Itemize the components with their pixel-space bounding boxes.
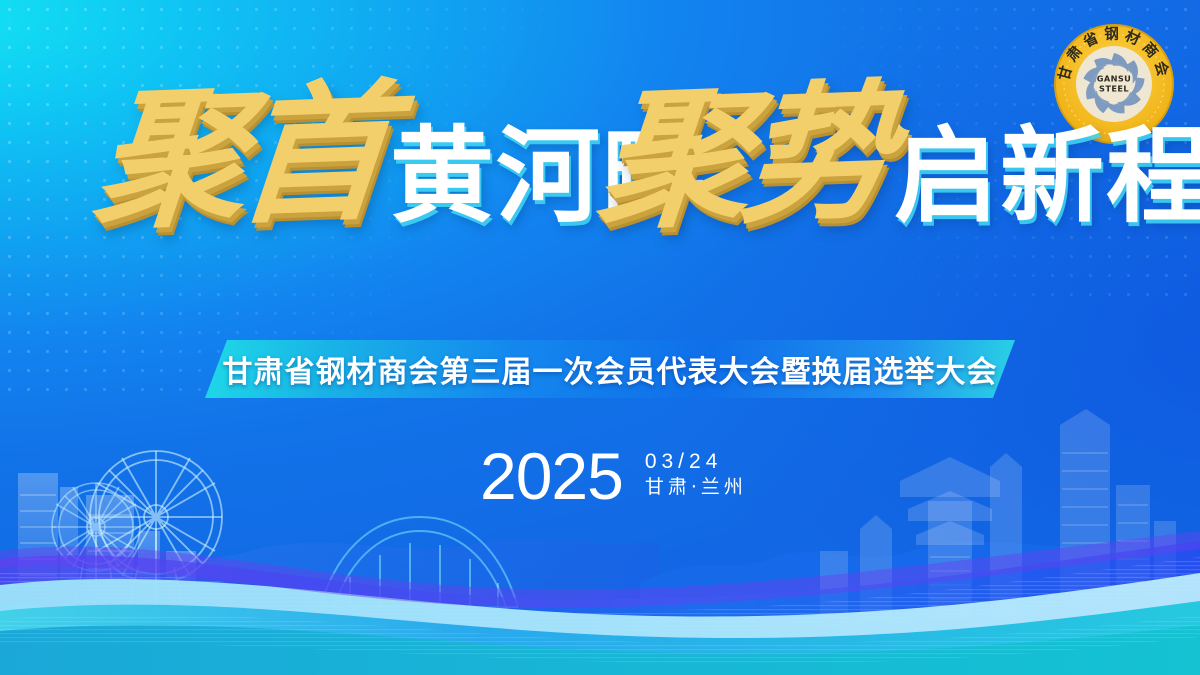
event-year: 2025 [480,443,623,509]
logo-center-line1: GANSU [1097,74,1131,84]
headline-serif-right: 启新程 [894,124,1200,228]
subtitle-text: 甘肃省钢材商会第三届一次会员代表大会暨换届选举大会 [223,347,998,391]
date-details: 03/24 甘肃·兰州 [645,451,747,501]
headline: 聚首 黄河畔 聚势 启新程 [0,84,1200,299]
headline-brush-left: 聚首 [89,79,397,239]
subtitle-ribbon: 甘肃省钢材商会第三届一次会员代表大会暨换届选举大会 [205,340,1015,398]
event-poster: 甘肃省钢材商会 GANSU [0,0,1200,675]
event-location: 甘肃·兰州 [645,478,747,497]
date-block: 2025 03/24 甘肃·兰州 [480,443,747,509]
headline-right: 聚势 启新程 [600,84,1200,234]
headline-brush-right: 聚势 [593,79,901,239]
event-month-day: 03/24 [645,451,747,472]
